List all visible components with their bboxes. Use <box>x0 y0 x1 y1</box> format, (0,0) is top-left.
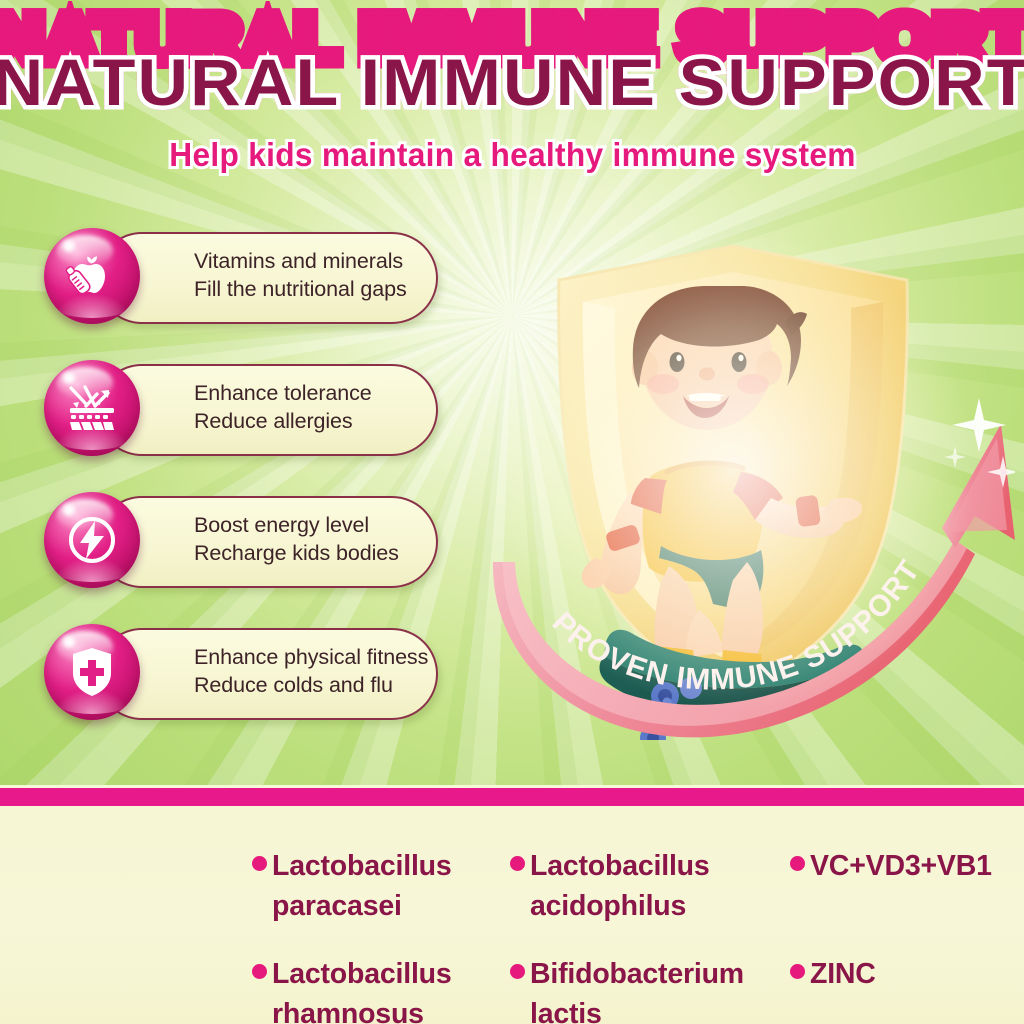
apple-bottle-icon <box>44 228 140 324</box>
bullet-icon <box>252 964 267 979</box>
feature-item[interactable]: Enhance physical fitness Reduce colds an… <box>44 624 444 720</box>
feature-list: Vitamins and minerals Fill the nutrition… <box>44 228 444 756</box>
infographic-poster: NATURAL IMMUNE SUPPORT NATURAL IMMUNE SU… <box>0 0 1024 1024</box>
bullet-icon <box>510 856 525 871</box>
list-item[interactable]: VC+VD3+VB1 <box>788 824 1024 932</box>
section-divider <box>0 788 1024 806</box>
list-item[interactable]: Lactobacillus rhamnosus <box>250 932 508 1024</box>
list-item[interactable]: Bifidobacterium lactis <box>508 932 788 1024</box>
feature-label: Enhance tolerance Reduce allergies <box>194 380 444 436</box>
ingredient-label: Bifidobacterium lactis <box>530 958 744 1024</box>
ingredient-label: ZINC <box>810 958 876 990</box>
list-item[interactable]: ZINC <box>788 932 1024 1024</box>
page-subtitle: Help kids maintain a healthy immune syst… <box>169 136 855 174</box>
bullet-icon <box>790 964 805 979</box>
feature-item[interactable]: Enhance tolerance Reduce allergies <box>44 360 444 456</box>
hero-glow <box>485 220 985 720</box>
page-title: NATURAL IMMUNE SUPPORT <box>0 44 1024 120</box>
page-subtitle-wrap: Help kids maintain a healthy immune syst… <box>0 136 1024 174</box>
ingredient-grid: Lactobacillus paracasei Lactobacillus ac… <box>250 824 1024 1024</box>
ingredients-footer: Lactobacillus paracasei Lactobacillus ac… <box>0 806 1024 1024</box>
skin-barrier-arrows-icon <box>44 360 140 456</box>
bullet-icon <box>790 856 805 871</box>
bullet-icon <box>252 856 267 871</box>
feature-label: Vitamins and minerals Fill the nutrition… <box>194 248 444 304</box>
page-title-wrap: NATURAL IMMUNE SUPPORT <box>0 44 1024 120</box>
ingredient-label: Lactobacillus rhamnosus <box>272 958 452 1024</box>
shield-cross-icon <box>44 624 140 720</box>
feature-item[interactable]: Vitamins and minerals Fill the nutrition… <box>44 228 444 324</box>
ingredient-label: Lactobacillus acidophilus <box>530 850 710 922</box>
feature-item[interactable]: Boost energy level Recharge kids bodies <box>44 492 444 588</box>
feature-label: Boost energy level Recharge kids bodies <box>194 512 444 568</box>
feature-label: Enhance physical fitness Reduce colds an… <box>194 644 444 700</box>
ingredient-label: Lactobacillus paracasei <box>272 850 452 922</box>
lightning-bolt-icon <box>44 492 140 588</box>
list-item[interactable]: Lactobacillus acidophilus <box>508 824 788 932</box>
list-item[interactable]: Lactobacillus paracasei <box>250 824 508 932</box>
bullet-icon <box>510 964 525 979</box>
hero-illustration: PROVEN IMMUNE SUPPORT <box>455 210 1015 740</box>
ingredient-label: VC+VD3+VB1 <box>810 850 992 882</box>
